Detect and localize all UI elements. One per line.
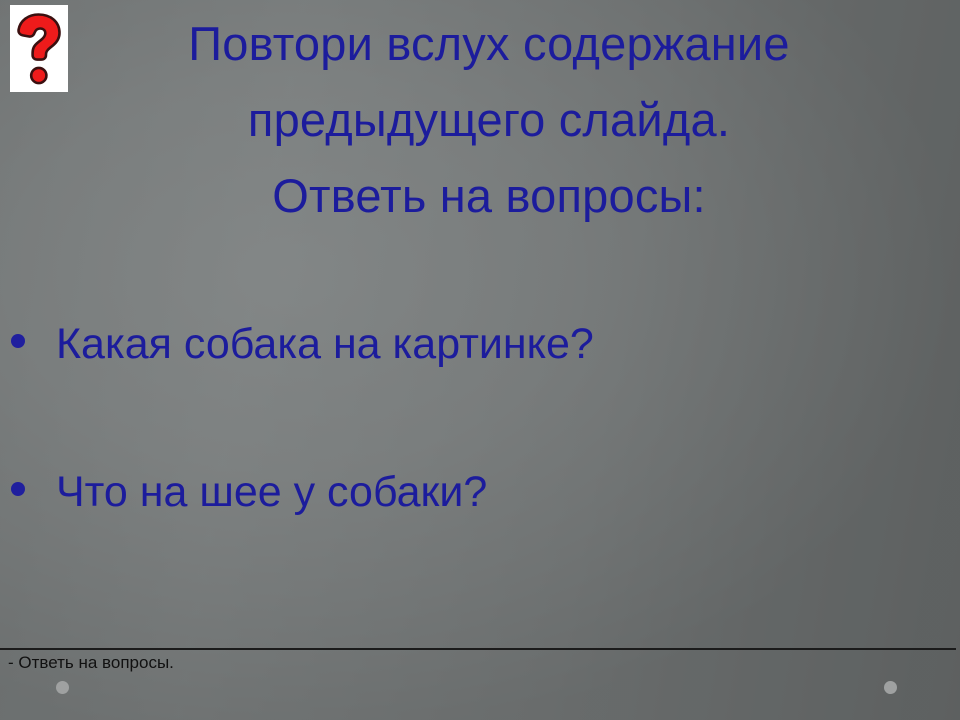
question-text-2: Что на шее у собаки? (56, 470, 487, 514)
footer-note: - Ответь на вопросы. (8, 652, 174, 674)
question-list: Какая собака на картинке? Что на шее у с… (0, 322, 960, 618)
footer-dot-left-icon (56, 681, 69, 694)
title-line-1: Повтори вслух содержание (84, 6, 894, 82)
list-item: Что на шее у собаки? (0, 470, 960, 618)
title-line-2: предыдущего слайда. (84, 82, 894, 158)
slide-title: Повтори вслух содержание предыдущего сла… (84, 6, 894, 234)
footer-dot-right-icon (884, 681, 897, 694)
list-item: Какая собака на картинке? (0, 322, 960, 470)
footer-divider (0, 648, 956, 650)
question-mark-icon (10, 5, 68, 92)
bullet-marker-icon (11, 334, 25, 348)
bullet-marker-icon (11, 482, 25, 496)
question-text-1: Какая собака на картинке? (56, 322, 594, 366)
presentation-slide: Повтори вслух содержание предыдущего сла… (0, 0, 960, 720)
question-mark-glyph (16, 12, 62, 86)
title-line-3: Ответь на вопросы: (84, 158, 894, 234)
